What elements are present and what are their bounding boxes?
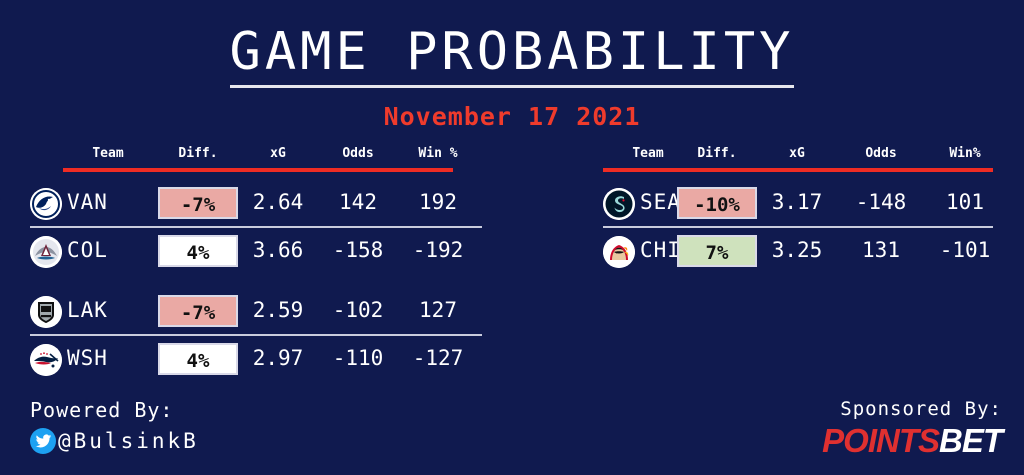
page-title: GAME PROBABILITY	[230, 25, 795, 88]
table-row[interactable]: WSH 4% 2.97 -110 -127	[22, 336, 482, 384]
odds-cell: -102	[318, 298, 398, 322]
pointsbet-logo[interactable]: POINTSBET	[822, 422, 1002, 460]
odds-cell: -148	[837, 190, 925, 214]
team-abbr: COL	[67, 238, 108, 262]
column-header-team: Team	[63, 146, 153, 161]
kings-logo	[30, 296, 62, 328]
capitals-logo	[30, 344, 62, 376]
game-block: LAK -7% 2.59 -102 127 WSH 4	[22, 288, 482, 384]
column-header-odds: Odds	[837, 146, 925, 161]
column-header-odds: Odds	[318, 146, 398, 161]
win-cell: -127	[398, 346, 478, 370]
xg-cell: 3.25	[757, 238, 837, 262]
pointsbet-logo-points: POINTS	[822, 422, 939, 459]
diff-cell: 7%	[677, 235, 757, 267]
win-cell: 127	[398, 298, 478, 322]
column-header-diff: Diff.	[158, 146, 238, 161]
table-header-row-left: Team Diff. xG Odds Win %	[22, 146, 482, 174]
team-abbr: VAN	[67, 190, 108, 214]
game-block: VAN -7% 2.64 142 192 COL 4% 3.66 -158	[22, 180, 482, 276]
twitter-icon[interactable]	[30, 428, 56, 454]
table-row[interactable]: LAK -7% 2.59 -102 127	[22, 288, 482, 336]
win-cell: 192	[398, 190, 478, 214]
odds-cell: 142	[318, 190, 398, 214]
column-header-diff: Diff.	[677, 146, 757, 161]
games-table-left: Team Diff. xG Odds Win % VAN -7% 2.64 14…	[22, 146, 482, 384]
powered-by-label: Powered By:	[30, 398, 199, 422]
team-abbr: CHI	[640, 238, 681, 262]
pointsbet-logo-bet: BET	[939, 422, 1002, 459]
twitter-handle[interactable]: @BulsinkB	[58, 429, 199, 453]
twitter-handle-row[interactable]: @BulsinkB	[30, 428, 199, 454]
games-table-right: Team Diff. xG Odds Win% SEA -10% 3.17 -1…	[595, 146, 1005, 276]
diff-cell: 4%	[158, 235, 238, 267]
win-cell: -192	[398, 238, 478, 262]
diff-cell: -7%	[158, 187, 238, 219]
canucks-logo	[30, 188, 62, 220]
xg-cell: 2.64	[238, 190, 318, 214]
xg-cell: 3.66	[238, 238, 318, 262]
win-cell: 101	[925, 190, 1005, 214]
column-header-xg: xG	[238, 146, 318, 161]
avalanche-logo	[30, 236, 62, 268]
odds-cell: -110	[318, 346, 398, 370]
powered-by-block: Powered By: @BulsinkB	[30, 398, 199, 454]
odds-cell: -158	[318, 238, 398, 262]
page-subtitle-date: November 17 2021	[0, 102, 1024, 131]
column-header-win: Win %	[398, 146, 478, 161]
team-abbr: WSH	[67, 346, 108, 370]
sponsor-block: Sponsored By: POINTSBET	[822, 398, 1002, 460]
table-row[interactable]: SEA -10% 3.17 -148 101	[595, 180, 1005, 228]
header-rule	[63, 168, 453, 172]
kraken-logo	[603, 188, 635, 220]
xg-cell: 3.17	[757, 190, 837, 214]
header: GAME PROBABILITY November 17 2021	[0, 0, 1024, 131]
diff-cell: -7%	[158, 295, 238, 327]
win-cell: -101	[925, 238, 1005, 262]
table-row[interactable]: CHI 7% 3.25 131 -101	[595, 228, 1005, 276]
blackhawks-logo	[603, 236, 635, 268]
diff-cell: -10%	[677, 187, 757, 219]
team-abbr: SEA	[640, 190, 681, 214]
table-row[interactable]: COL 4% 3.66 -158 -192	[22, 228, 482, 276]
column-header-xg: xG	[757, 146, 837, 161]
header-rule	[603, 168, 993, 172]
table-header-row-right: Team Diff. xG Odds Win%	[595, 146, 1005, 174]
column-header-win: Win%	[925, 146, 1005, 161]
sponsored-by-label: Sponsored By:	[822, 398, 1002, 420]
diff-cell: 4%	[158, 343, 238, 375]
odds-cell: 131	[837, 238, 925, 262]
game-block: SEA -10% 3.17 -148 101 CHI	[595, 180, 1005, 276]
xg-cell: 2.97	[238, 346, 318, 370]
table-row[interactable]: VAN -7% 2.64 142 192	[22, 180, 482, 228]
xg-cell: 2.59	[238, 298, 318, 322]
team-abbr: LAK	[67, 298, 108, 322]
